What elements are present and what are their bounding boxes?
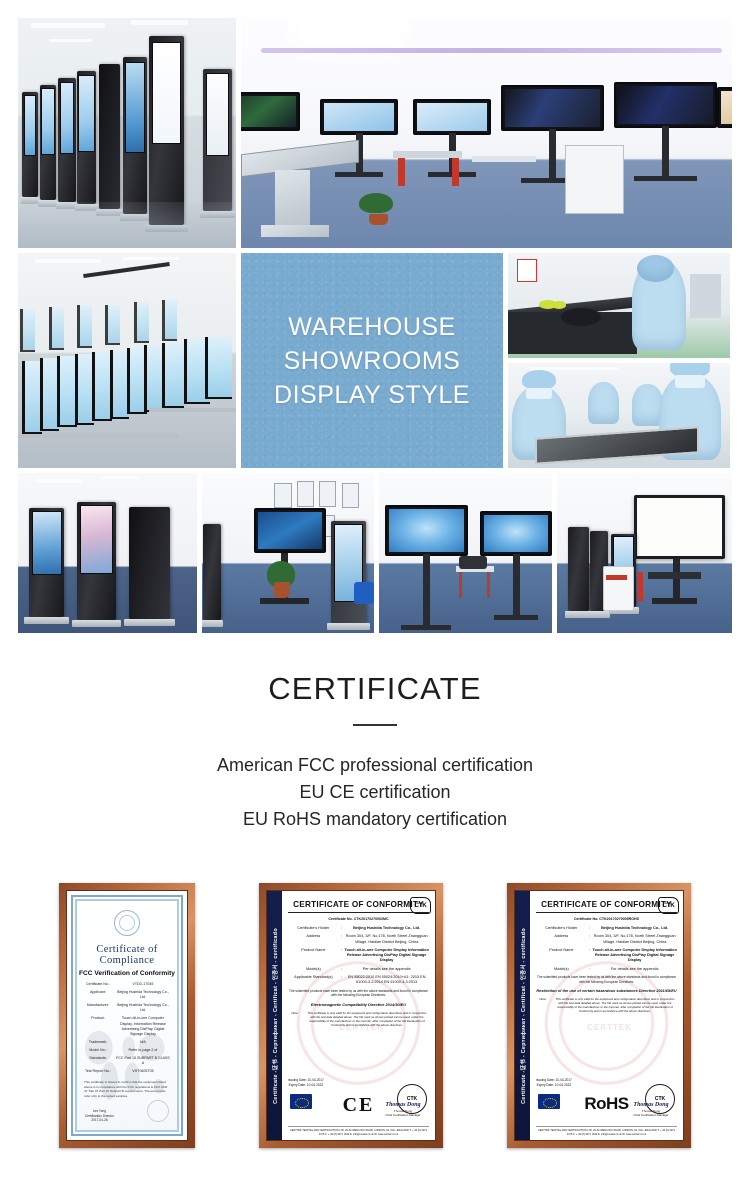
expiry-date: Expiry Date: 10-04-2022	[536, 1083, 572, 1088]
ce-side-band: Certificate -证书 - Сертификат - Certifica…	[267, 891, 282, 1140]
note-label: Note:	[288, 1011, 302, 1027]
certificate-frame-rohs: Certificate -证书 - Сертификат - Certifica…	[507, 883, 691, 1148]
table-row: Trademark: N/A	[84, 1040, 170, 1045]
table-row: Applicable Standard(s): EN 55022:2010 EN…	[288, 975, 429, 985]
ce-heading: CERTIFICATE OF CONFORMITY	[288, 900, 429, 913]
table-row: Manufacturer: Beijing Hushida Technology…	[84, 1003, 170, 1014]
rohs-detail-rows: Certificate's Holder: Beijing Hushida Te…	[536, 926, 677, 972]
ce-detail-rows: Certificate's Holder: Beijing Hushida Te…	[288, 926, 429, 986]
table-row: Certificate's Holder: Beijing Hushida Te…	[288, 926, 429, 931]
fcc-signature-block: Lee Yong Certification Director 2017-04-…	[85, 1109, 114, 1123]
photo-showroom-kiosk-trio	[18, 473, 197, 633]
ce-footer: Issuing Date: 10-04-2017 Expiry Date: 10…	[288, 1076, 429, 1122]
photo-showroom-interactive-displays	[241, 18, 732, 248]
fcc-subheading: FCC Verification of Conformity	[77, 970, 177, 977]
table-row: Model(s): For details see the appendix	[536, 967, 677, 972]
row-key: Model No.:	[84, 1048, 112, 1053]
rohs-note: Note: This certificate is only valid for…	[536, 997, 677, 1013]
row-key: Standards:	[84, 1056, 112, 1067]
row-value: Per details see the appendix	[344, 967, 429, 972]
table-row: Test Report No.: VHT0405T05	[84, 1069, 170, 1074]
table-row: Product Name: Touch all-in-one Computer …	[536, 948, 677, 964]
ce-side-text: Certificate -证书 - Сертификат - Certifica…	[271, 928, 279, 1104]
issuing-date: Issuing Date: 10-04-2017	[536, 1078, 572, 1083]
row-value: N/A	[116, 1040, 170, 1045]
photo-collage: WAREHOUSE SHOWROOMS DISPLAY STYLE	[0, 0, 750, 633]
row-key: Product:	[84, 1016, 112, 1038]
ce-dates: Issuing Date: 10-04-2017 Expiry Date: 10…	[288, 1078, 324, 1087]
rohs-directive: Restriction of the use of certain hazard…	[536, 988, 677, 993]
note-label: Note:	[536, 997, 550, 1013]
row-value: VTDC-17045	[116, 982, 170, 987]
ce-note: Note: This certificate is only valid for…	[288, 1011, 429, 1027]
certificate-title: CERTIFICATE	[0, 671, 750, 707]
collage-row-2: WAREHOUSE SHOWROOMS DISPLAY STYLE	[18, 253, 732, 468]
photo-showroom-mobile-stand-display	[202, 473, 375, 633]
certificate-frame-fcc: Certificate of Compliance FCC Verificati…	[59, 883, 195, 1148]
photo-showroom-dual-touch-screens	[379, 473, 552, 633]
product-detail-page: WAREHOUSE SHOWROOMS DISPLAY STYLE	[0, 0, 750, 1178]
banner-text: WAREHOUSE SHOWROOMS DISPLAY STYLE	[274, 310, 470, 412]
table-row: Applicant: Beijing Hushida Technology Co…	[84, 990, 170, 1001]
row-value: Room 304, 3/F, No.178, North Street Zhan…	[592, 934, 677, 944]
fcc-emblem-icon	[114, 910, 140, 936]
row-key: Certificate No.:	[84, 982, 112, 987]
rohs-certificate-no: Certificate No. CTK20170270005ROHS	[536, 917, 677, 921]
row-value: Beijing Hushida Technology Co., Ltd.	[116, 1003, 170, 1014]
table-row: Standards: FCC Part 15 SUBPART B CLASS A	[84, 1056, 170, 1067]
row-value: Room 304, 3/F, No.178, North Street Zhan…	[344, 934, 429, 944]
row-key: Applicant:	[84, 990, 112, 1001]
row-value: For details see the appendix	[592, 967, 677, 972]
row-value: Touch all-in-one Computer Display Inform…	[344, 948, 429, 964]
expiry-date: Expiry Date: 10-04-2022	[288, 1083, 324, 1088]
row-key: Certificate's Holder	[288, 926, 339, 931]
warehouse-showrooms-banner: WAREHOUSE SHOWROOMS DISPLAY STYLE	[241, 253, 503, 468]
signature-title: Chief Certification Manager	[377, 1113, 429, 1117]
row-value: Beijing Hushida Technology Co., Ltd.	[116, 990, 170, 1001]
issuing-date: Issuing Date: 10-04-2017	[288, 1078, 324, 1083]
fcc-heading: Certificate of Compliance	[77, 944, 177, 966]
table-row: Address: Room 304, 3/F, No.178, North St…	[288, 934, 429, 944]
row-value: Beijing Hushida Technology Co., Ltd.	[344, 926, 429, 931]
signature-script: Thomas Dong	[377, 1102, 429, 1108]
ce-signature-block: Thomas Dong Thomas Dong Chief Certificat…	[377, 1102, 429, 1117]
row-key: Product Name	[536, 948, 587, 964]
row-value: VHT0405T05	[116, 1069, 170, 1074]
photo-cleanroom-assembly-team	[508, 363, 730, 468]
rohs-footer: Issuing Date: 10-04-2017 Expiry Date: 10…	[536, 1076, 677, 1122]
photo-showroom-vertical-kiosks	[18, 18, 236, 248]
table-row: Certificate No.: VTDC-17045	[84, 982, 170, 987]
rohs-dates: Issuing Date: 10-04-2017 Expiry Date: 10…	[536, 1078, 572, 1087]
table-row: Certificate's Holder: Beijing Hushida Te…	[536, 926, 677, 931]
certificate-section: CERTIFICATE American FCC professional ce…	[0, 633, 750, 1178]
table-row: Product Name: Touch all-in-one Computer …	[288, 948, 429, 964]
rohs-address-footer: CERTTEK TESTING AND CERTIFICATION LTD. 2…	[536, 1126, 677, 1136]
ce-address-footer: CERTTEK TESTING AND CERTIFICATION LTD. 2…	[288, 1126, 429, 1136]
collage-row-3	[18, 473, 732, 633]
rohs-heading: CERTIFICATE OF CONFORMITY	[536, 900, 677, 913]
certificate-line-rohs: EU RoHS mandatory certification	[0, 806, 750, 833]
signature-date: 2017-04-28	[85, 1118, 114, 1123]
cleanroom-photo-stack	[508, 253, 730, 468]
row-value: Touch all-in-one Computer Display Inform…	[592, 948, 677, 964]
table-row: Model No.: Refer to page 2 of	[84, 1048, 170, 1053]
row-key: Model(s)	[536, 967, 587, 972]
banner-line-2: SHOWROOMS	[274, 344, 470, 378]
row-key: Test Report No.:	[84, 1069, 112, 1074]
table-row: Model(s): Per details see the appendix	[288, 967, 429, 972]
table-row: Product: Touch all-in-one Computer Displ…	[84, 1016, 170, 1038]
title-divider	[353, 724, 397, 726]
fcc-seal-icon	[147, 1100, 169, 1122]
rohs-side-text: Certificate -证书 - Сертификат - Certifica…	[519, 928, 527, 1104]
photo-showroom-whiteboard-display	[557, 473, 732, 633]
signature-script: Thomas Dong	[625, 1102, 677, 1108]
row-key: Applicable Standard(s)	[288, 975, 339, 985]
table-row: Address: Room 304, 3/F, No.178, North St…	[536, 934, 677, 944]
fcc-detail-rows: Certificate No.: VTDC-17045 Applicant: B…	[84, 982, 170, 1074]
signature-title: Chief Certification Manager	[625, 1113, 677, 1117]
banner-line-1: WAREHOUSE	[274, 310, 470, 344]
collage-row-1	[18, 18, 732, 248]
row-value: Touch all-in-one Computer Display, Infor…	[116, 1016, 170, 1038]
row-key: Address	[536, 934, 587, 944]
row-value: FCC Part 15 SUBPART B CLASS A	[116, 1056, 170, 1067]
ce-certificate-no: Certificate No. CTK20170270002MC	[288, 917, 429, 921]
photo-warehouse-lcd-panel-racks	[18, 253, 236, 468]
certificate-list: American FCC professional certification …	[0, 752, 750, 833]
row-key: Manufacturer:	[84, 1003, 112, 1014]
rohs-signature-block: Thomas Dong Thomas Dong Chief Certificat…	[625, 1102, 677, 1117]
row-value: Beijing Hushida Technology Co., Ltd.	[592, 926, 677, 931]
row-key: Address	[288, 934, 339, 944]
row-key: Model(s)	[288, 967, 339, 972]
row-key: Certificate's Holder	[536, 926, 587, 931]
row-value: Refer to page 2 of	[116, 1048, 170, 1053]
certificate-line-ce: EU CE certification	[0, 779, 750, 806]
row-key: Trademark:	[84, 1040, 112, 1045]
photo-cleanroom-technician-bench	[508, 253, 730, 358]
certificate-images: Certificate of Compliance FCC Verificati…	[0, 883, 750, 1178]
rohs-statement: The submitted products have been tested …	[536, 975, 677, 984]
certificate-frame-ce: Certificate -证书 - Сертификат - Certifica…	[259, 883, 443, 1148]
rohs-side-band: Certificate -证书 - Сертификат - Certifica…	[515, 891, 530, 1140]
note-text: This certificate is only valid for the e…	[553, 997, 677, 1013]
ce-statement: The submitted products have been tested …	[288, 989, 429, 998]
note-text: This certificate is only valid for the e…	[305, 1011, 429, 1027]
banner-line-3: DISPLAY STYLE	[274, 378, 470, 412]
ce-directive: Electromagnetic Compatibility Directive …	[288, 1002, 429, 1007]
certificate-line-fcc: American FCC professional certification	[0, 752, 750, 779]
row-value: EN 55022:2010 EN 55024:2010+A1: 2015 EN …	[344, 975, 429, 985]
row-key: Product Name	[288, 948, 339, 964]
